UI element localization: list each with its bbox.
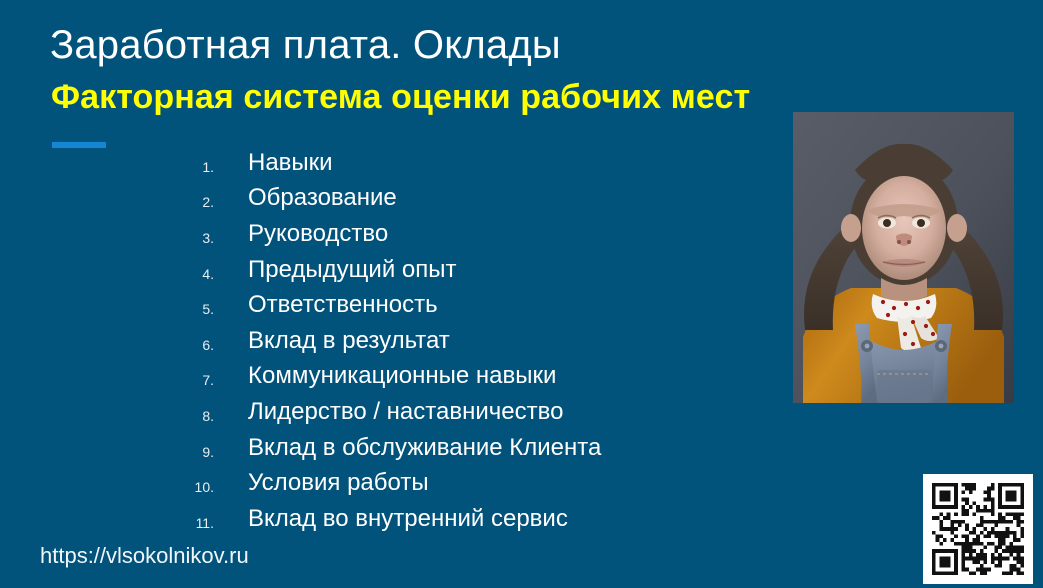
qr-code-icon: [932, 483, 1024, 575]
list-item: 9.Вклад в обслуживание Клиента: [150, 430, 770, 466]
list-item: 3.Руководство: [150, 216, 770, 252]
list-item-label: Коммуникационные навыки: [224, 362, 556, 390]
page-title: Заработная плата. Оклады: [50, 22, 561, 68]
list-item: 10.Условия работы: [150, 465, 770, 501]
list-item-label: Условия работы: [224, 469, 429, 497]
list-item-label: Ответственность: [224, 291, 438, 319]
list-item-number: 2.: [150, 195, 224, 209]
list-item-number: 6.: [150, 338, 224, 352]
list-item: 7.Коммуникационные навыки: [150, 359, 770, 395]
list-item: 11.Вклад во внутренний сервис: [150, 501, 770, 537]
qr-code[interactable]: [923, 474, 1033, 584]
list-item: 2.Образование: [150, 181, 770, 217]
list-item-label: Руководство: [224, 220, 388, 248]
list-item-label: Навыки: [224, 149, 333, 177]
chimpanzee-illustration: [793, 112, 1014, 403]
list-item-label: Образование: [224, 184, 397, 212]
list-item-number: 7.: [150, 373, 224, 387]
list-item: 8.Лидерство / наставничество: [150, 394, 770, 430]
list-item-number: 9.: [150, 445, 224, 459]
list-item-label: Лидерство / наставничество: [224, 398, 563, 426]
list-item: 6.Вклад в результат: [150, 323, 770, 359]
accent-bar-divider: [52, 142, 106, 148]
list-item-number: 11.: [150, 516, 224, 530]
page-subtitle: Факторная система оценки рабочих мест: [51, 77, 750, 117]
list-item-label: Вклад в обслуживание Клиента: [224, 434, 601, 462]
list-item: 1.Навыки: [150, 145, 770, 181]
list-item-number: 5.: [150, 302, 224, 316]
list-item-number: 3.: [150, 231, 224, 245]
list-item-label: Вклад во внутренний сервис: [224, 505, 568, 533]
chimpanzee-photo: [793, 112, 1014, 403]
list-item-number: 8.: [150, 409, 224, 423]
list-item-number: 10.: [150, 480, 224, 494]
list-item-label: Вклад в результат: [224, 327, 450, 355]
list-item: 5.Ответственность: [150, 287, 770, 323]
list-item-number: 1.: [150, 160, 224, 174]
list-item: 4.Предыдущий опыт: [150, 252, 770, 288]
footer-url[interactable]: https://vlsokolnikov.ru: [40, 543, 249, 569]
list-item-number: 4.: [150, 267, 224, 281]
list-item-label: Предыдущий опыт: [224, 256, 457, 284]
factor-list: 1.Навыки2.Образование3.Руководство4.Пред…: [150, 145, 770, 537]
presentation-slide: Заработная плата. Оклады Факторная систе…: [0, 0, 1043, 588]
